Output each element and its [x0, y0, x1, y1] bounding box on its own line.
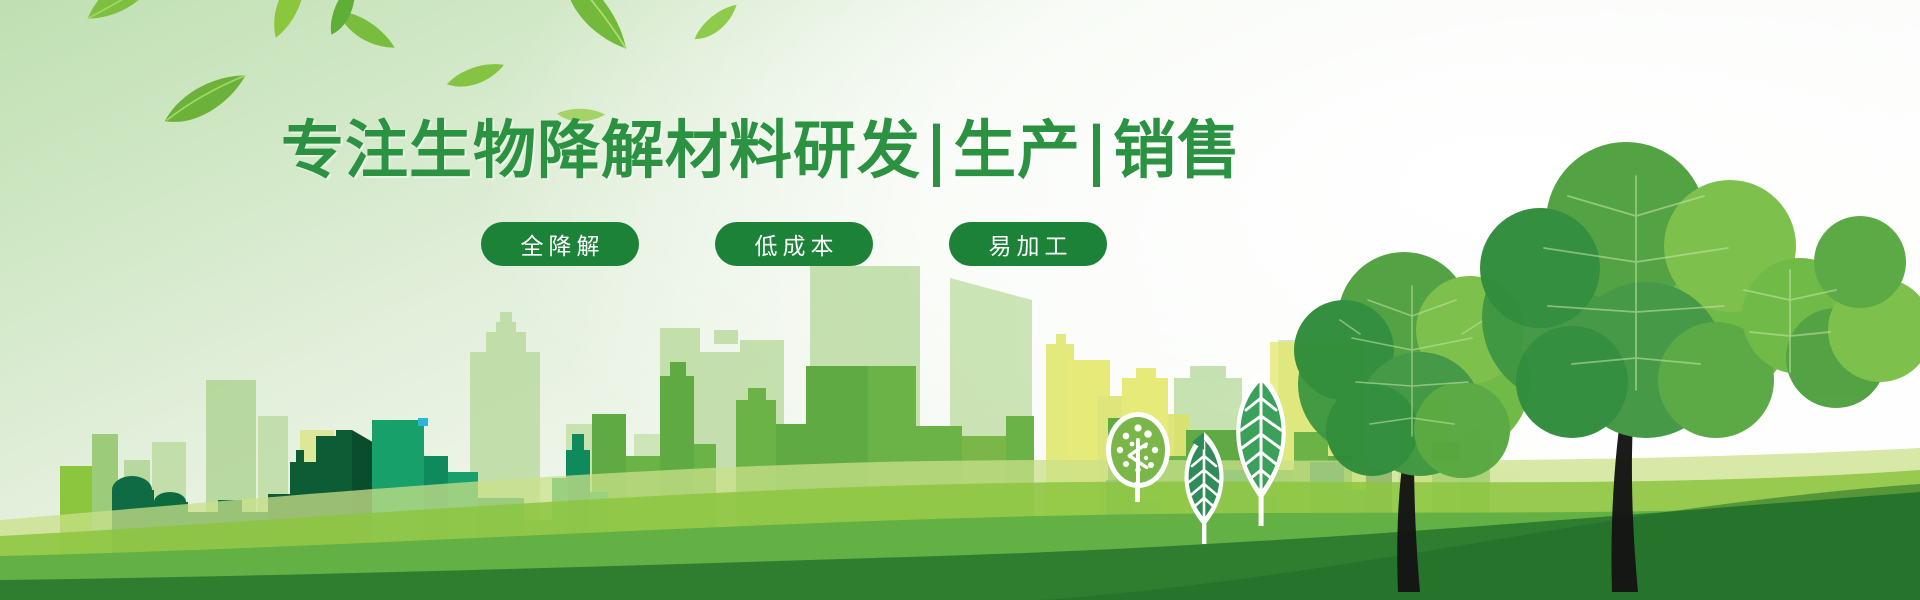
scenery-illustration [0, 0, 1920, 600]
page-title: 专注生物降解材料研发|生产|销售 [0, 116, 1920, 186]
headline-separator-2: | [1081, 116, 1113, 186]
pill-easy-processing[interactable]: 易加工 [949, 222, 1107, 266]
pill-low-cost-label: 低成本 [750, 227, 839, 261]
pill-full-degradation-label: 全降解 [516, 227, 605, 261]
eco-hero-banner: 专注生物降解材料研发|生产|销售 全降解 低成本 易加工 [0, 0, 1920, 600]
feature-pill-group: 全降解 低成本 易加工 [481, 222, 1107, 266]
pill-full-degradation[interactable]: 全降解 [481, 222, 639, 266]
pill-low-cost[interactable]: 低成本 [715, 222, 873, 266]
headline-segment-1: 专注生物降解材料研发 [281, 114, 921, 187]
headline-segment-2: 生产 [953, 114, 1081, 187]
pill-easy-processing-label: 易加工 [984, 227, 1073, 261]
headline-segment-3: 销售 [1113, 114, 1241, 187]
headline-separator-1: | [921, 116, 953, 186]
